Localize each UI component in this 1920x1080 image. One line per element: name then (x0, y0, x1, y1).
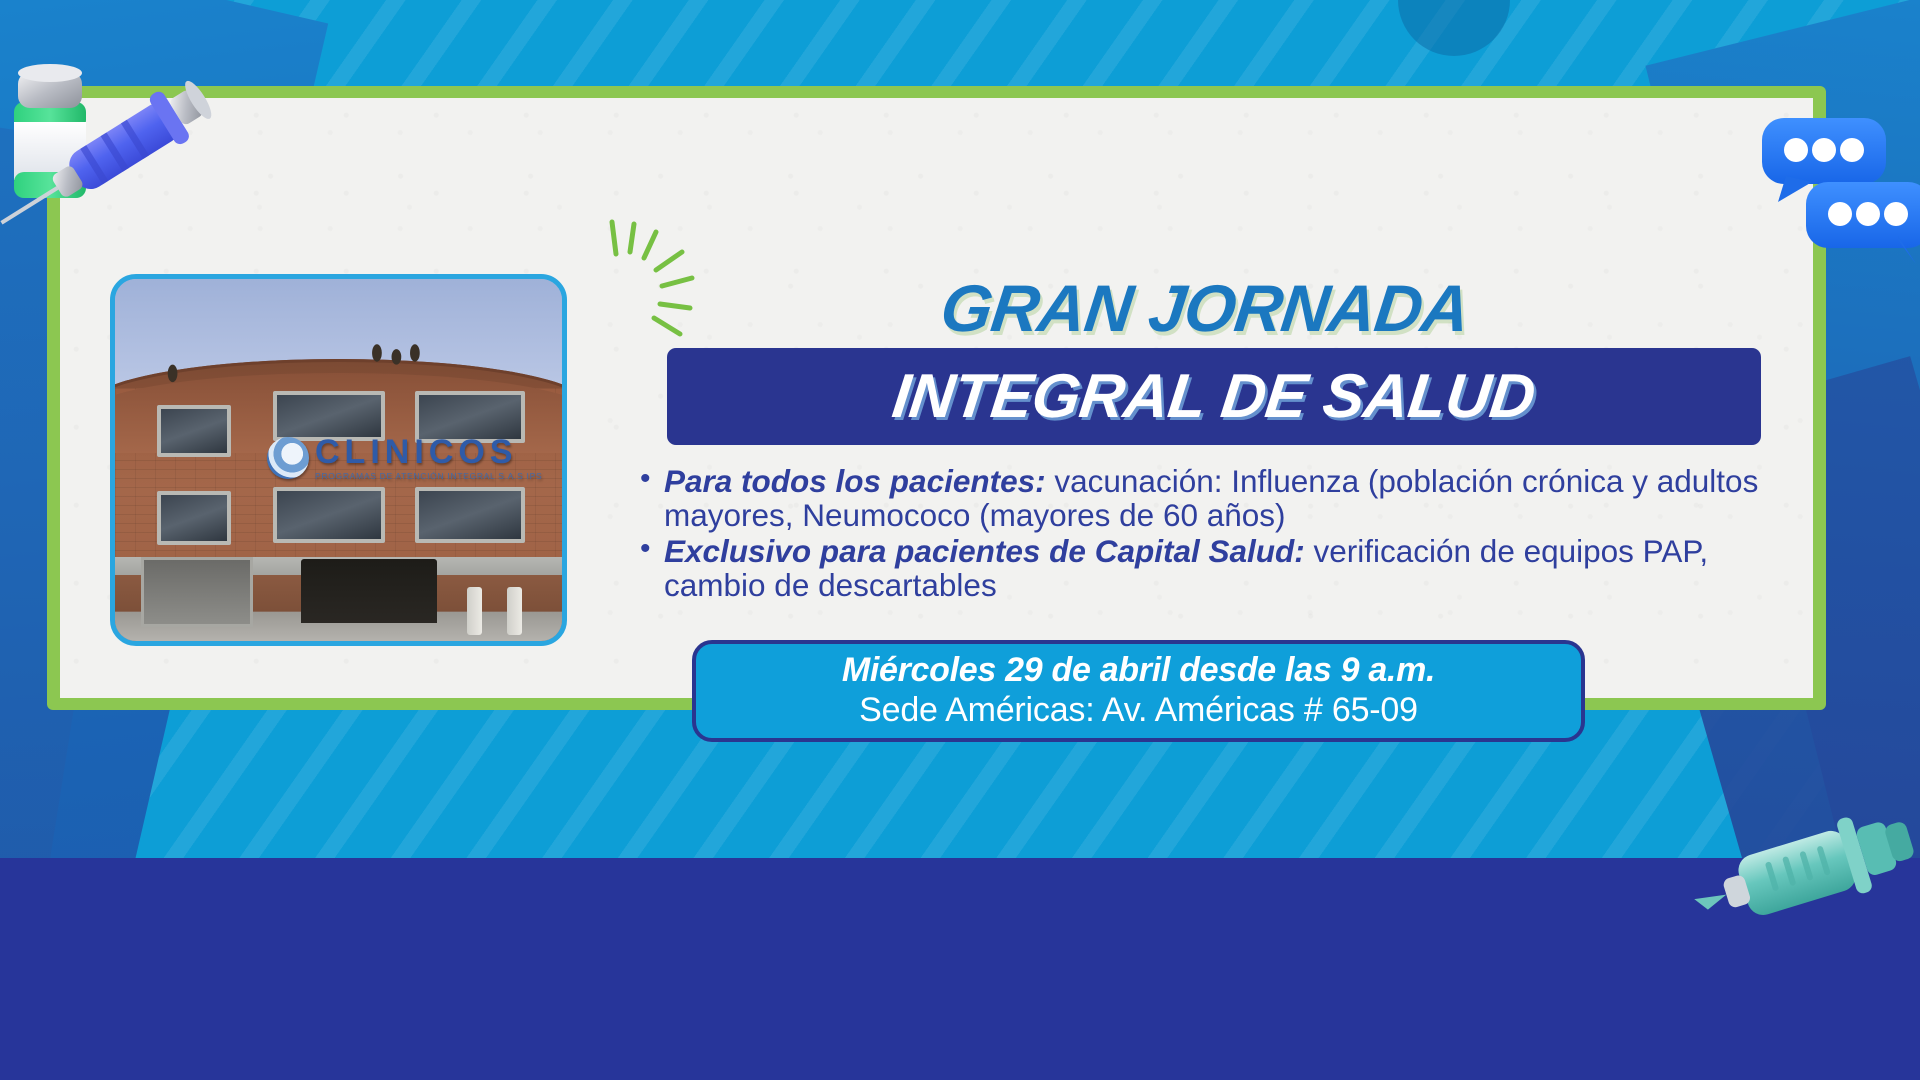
photo-window (157, 405, 231, 457)
page-subtitle: INTEGRAL DE SALUD (889, 361, 1539, 432)
event-details-box: Miércoles 29 de abril desde las 9 a.m. S… (692, 640, 1585, 742)
photo-pillar (507, 587, 522, 635)
title-banner: INTEGRAL DE SALUD (667, 348, 1761, 445)
list-item-lead: Exclusivo para pacientes de Capital Salu… (664, 533, 1305, 569)
page-title: GRAN JORNADA (615, 270, 1794, 346)
photo-window (273, 487, 385, 543)
clinic-building-photo: CLINICOS PROGRAMAS DE ATENCIÓN INTEGRAL … (110, 274, 567, 646)
event-location: Sede Américas: Av. Américas # 65-09 (859, 691, 1418, 730)
clinicos-logo-mark-icon (267, 437, 309, 479)
list-item: Exclusivo para pacientes de Capital Salu… (630, 535, 1810, 602)
event-date-time: Miércoles 29 de abril desde las 9 a.m. (842, 652, 1435, 689)
list-item-lead: Para todos los pacientes: (664, 463, 1046, 499)
photo-main-door (301, 559, 437, 623)
syringe-teal-icon (1684, 790, 1920, 960)
photo-window (415, 487, 525, 543)
photo-pillar (467, 587, 482, 635)
photo-left-entrance (141, 557, 253, 627)
service-list: Para todos los pacientes: vacunación: In… (630, 465, 1810, 606)
photo-window (157, 491, 231, 545)
list-item: Para todos los pacientes: vacunación: In… (630, 465, 1810, 532)
background-bottom-band (0, 858, 1920, 1080)
clinicos-logo-name: CLINICOS (315, 435, 542, 469)
chat-bubbles-icon (1748, 100, 1920, 280)
vaccine-vial-icon (0, 44, 222, 234)
clinicos-logo-subtitle: PROGRAMAS DE ATENCIÓN INTEGRAL S.A.S IPS (315, 472, 542, 481)
clinicos-logo: CLINICOS PROGRAMAS DE ATENCIÓN INTEGRAL … (267, 435, 542, 481)
poster-content: GRAN JORNADA INTEGRAL DE SALUD Para todo… (620, 120, 1820, 680)
